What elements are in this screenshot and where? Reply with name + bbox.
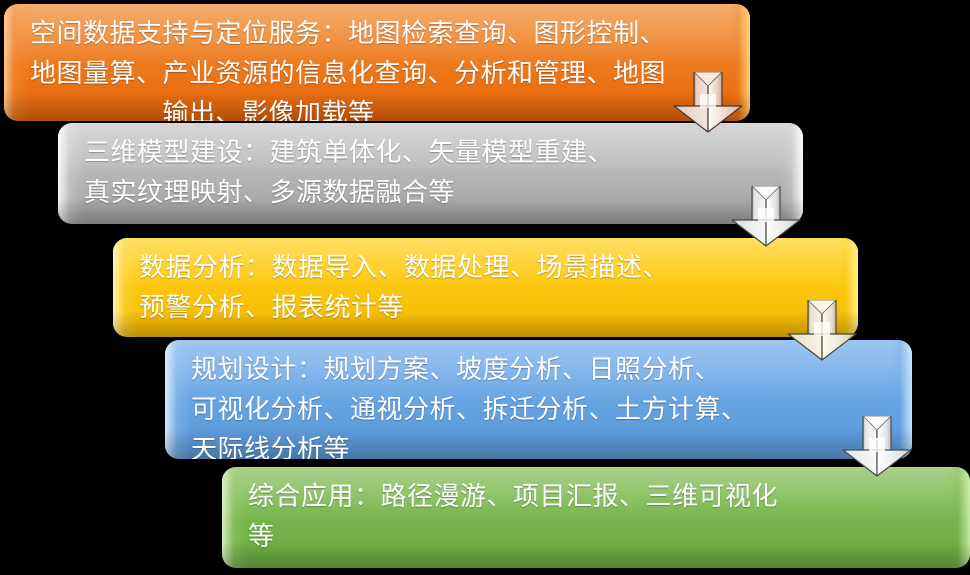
band-left-bevel [165, 340, 191, 459]
flow-band-spatial-data[interactable]: 空间数据支持与定位服务：地图检索查询、图形控制、 地图量算、产业资源的信息化查询… [4, 4, 750, 121]
flow-band-integrated-application[interactable]: 综合应用：路径漫游、项目汇报、三维可视化 等 [222, 467, 970, 568]
flow-band-data-analysis[interactable]: 数据分析：数据导入、数据处理、场景描述、 预警分析、报表统计等 [113, 238, 858, 337]
arrow-down-icon-2 [730, 186, 802, 248]
flow-band-label-data-analysis: 数据分析：数据导入、数据处理、场景描述、 预警分析、报表统计等 [139, 248, 828, 328]
flow-band-label-spatial-data: 空间数据支持与定位服务：地图检索查询、图形控制、 地图量算、产业资源的信息化查询… [30, 14, 720, 121]
arrow-down-icon-1 [672, 72, 744, 134]
diagram-canvas: 空间数据支持与定位服务：地图检索查询、图形控制、 地图量算、产业资源的信息化查询… [0, 0, 970, 575]
flow-band-3d-model[interactable]: 三维模型建设：建筑单体化、矢量模型重建、 真实纹理映射、多源数据融合等 [58, 123, 803, 224]
flow-band-label-integrated-application: 综合应用：路径漫游、项目汇报、三维可视化 等 [248, 477, 940, 557]
flow-band-label-3d-model: 三维模型建设：建筑单体化、矢量模型重建、 真实纹理映射、多源数据融合等 [84, 133, 773, 213]
arrow-down-icon-3 [786, 300, 858, 362]
arrow-down-icon-4 [841, 416, 913, 478]
band-left-bevel [4, 4, 30, 121]
band-left-bevel [113, 238, 139, 337]
band-right-bevel [948, 467, 970, 568]
band-left-bevel [58, 123, 84, 224]
band-left-bevel [222, 467, 248, 568]
flow-band-label-planning-design: 规划设计：规划方案、坡度分析、日照分析、 可视化分析、通视分析、拆迁分析、土方计… [191, 350, 882, 459]
